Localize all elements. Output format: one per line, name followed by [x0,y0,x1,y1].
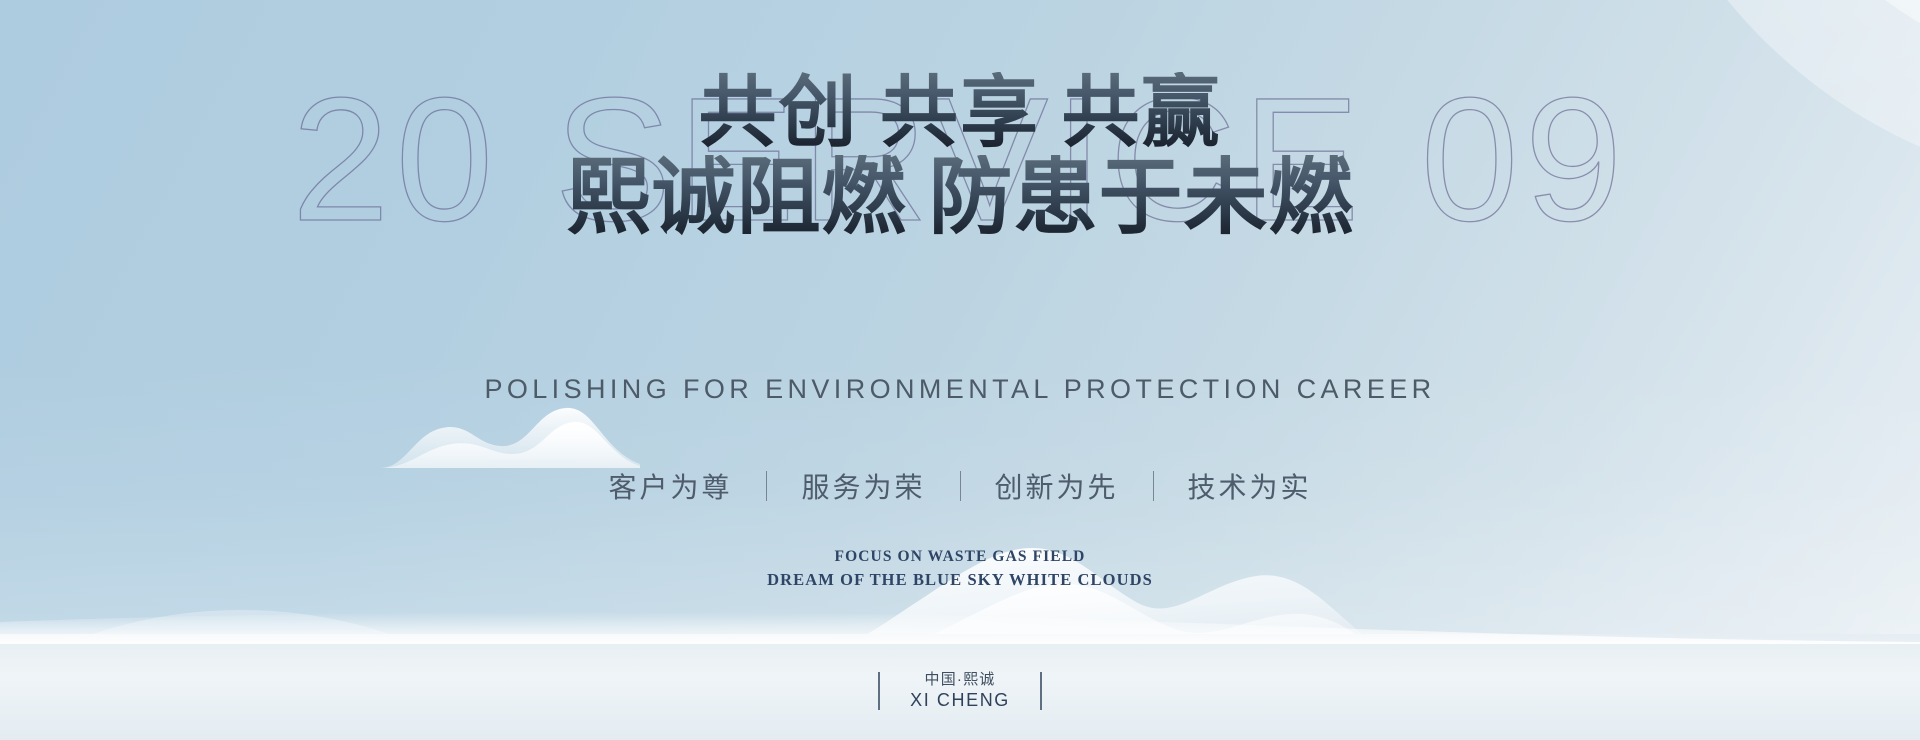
value-item-1: 客户为尊 [574,466,766,506]
logo-rule-right [1040,672,1042,710]
headline-line-2: 熙诚阻燃 防患于未燃 [0,155,1920,242]
value-item-3: 创新为先 [961,466,1153,506]
mountain-back [380,408,640,468]
value-separator-2 [960,471,961,501]
values-row: 客户为尊 服务为荣 创新为先 技术为实 [0,466,1920,506]
poster-canvas: 20 SERVICE 09 共创 共享 共赢 熙诚阻燃 防患于未燃 POLISH… [0,0,1920,740]
logo-lockup: 中国·熙诚 XI CHENG [0,670,1920,712]
logo-name-en: XI CHENG [910,689,1010,712]
value-item-2: 服务为荣 [767,466,959,506]
left-mountain [380,398,640,468]
value-separator-1 [766,471,767,501]
logo-rule-left [878,672,880,710]
logo-name-cn: 中国·熙诚 [910,670,1010,689]
micro-lines: FOCUS ON WASTE GAS FIELD DREAM OF THE BL… [0,545,1920,593]
micro-line-2: DREAM OF THE BLUE SKY WHITE CLOUDS [0,568,1920,593]
value-separator-3 [1153,471,1154,501]
mountain-front [380,422,640,468]
logo-names: 中国·熙诚 XI CHENG [910,670,1010,712]
ring-mid-outer [1720,0,1920,81]
headline-line-1: 共创 共享 共赢 [0,72,1920,153]
value-item-4: 技术为实 [1154,466,1346,506]
micro-line-1: FOCUS ON WASTE GAS FIELD [0,545,1920,568]
headline-block: 共创 共享 共赢 熙诚阻燃 防患于未燃 [0,72,1920,242]
english-tagline: POLISHING FOR ENVIRONMENTAL PROTECTION C… [0,374,1920,405]
